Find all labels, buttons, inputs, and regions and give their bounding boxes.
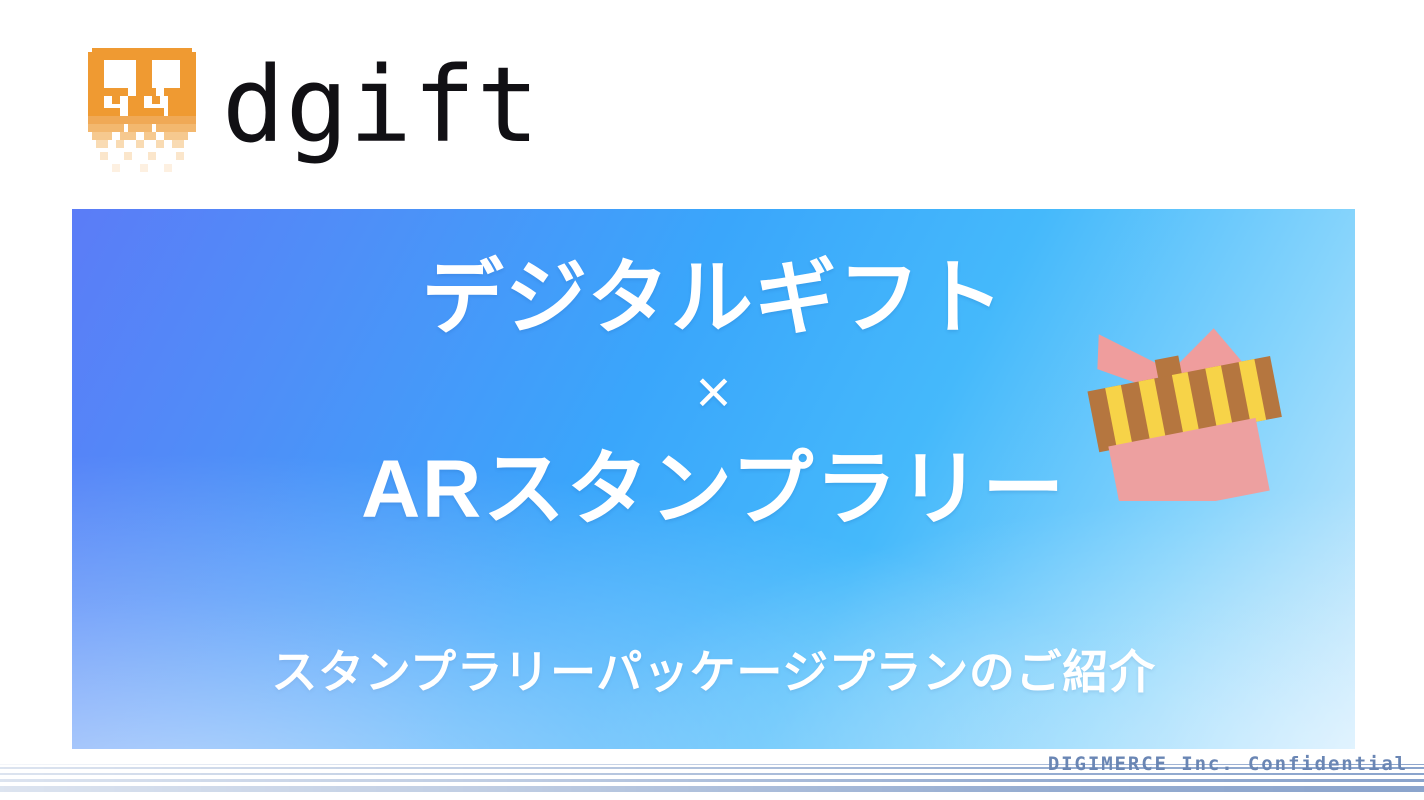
- brand-wordmark: dgift: [222, 58, 540, 154]
- hero-title: デジタルギフト × ARスタンプラリー: [361, 209, 1066, 536]
- title-slide: dgift: [0, 0, 1424, 800]
- hero-title-separator: ×: [361, 362, 1066, 424]
- slide-footer: DIGIMERCE Inc. Confidential: [0, 756, 1424, 800]
- dgift-pixel-mark-icon: [88, 48, 196, 172]
- hero-panel: デジタルギフト × ARスタンプラリー スタンプラリーパッケージプランのご紹介: [72, 209, 1355, 749]
- hero-title-line-1: デジタルギフト: [361, 253, 1066, 346]
- confidentiality-notice: DIGIMERCE Inc. Confidential: [1048, 753, 1408, 775]
- hero-title-line-2: ARスタンプラリー: [361, 444, 1066, 537]
- brand-logo-lockup: dgift: [88, 48, 540, 172]
